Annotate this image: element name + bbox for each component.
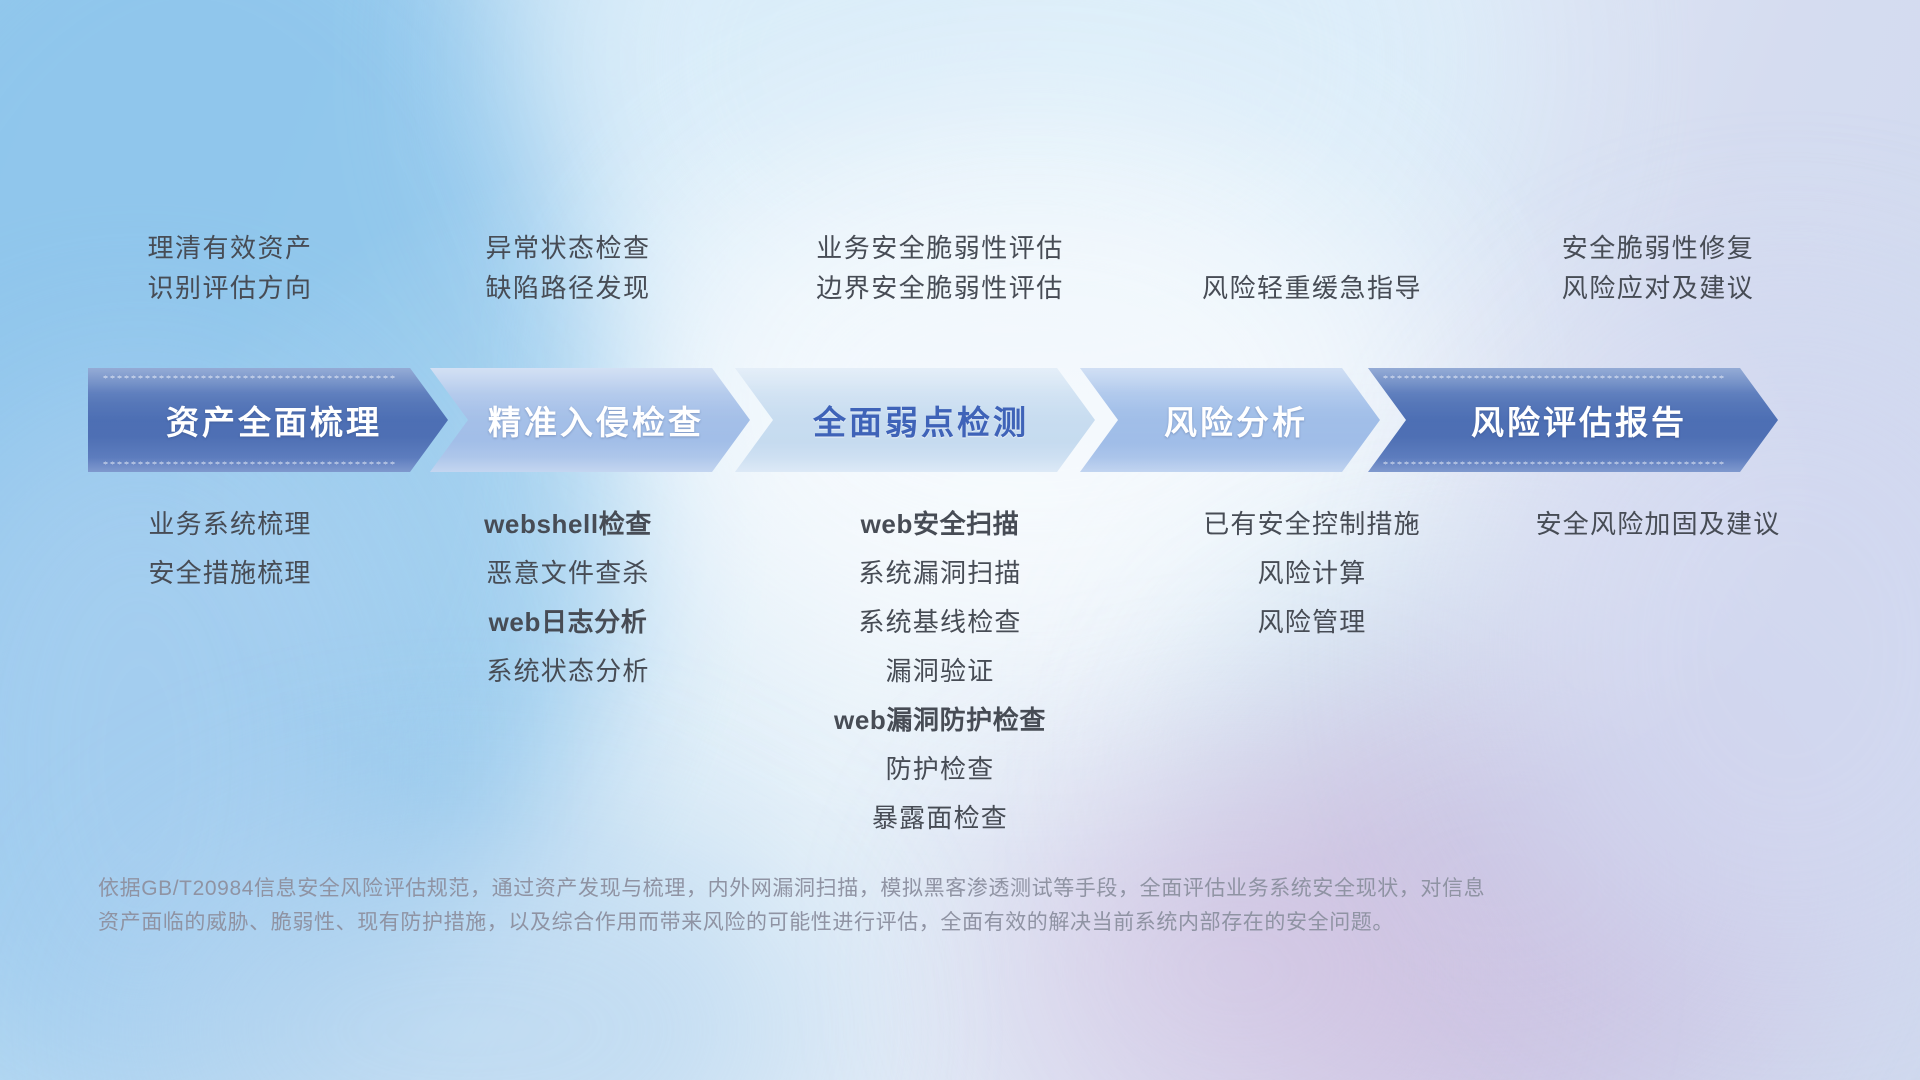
stage-top-labels-row: 理清有效资产识别评估方向异常状态检查缺陷路径发现业务安全脆弱性评估边界安全脆弱性…	[0, 228, 1920, 338]
stage-top-label: 风险应对及建议	[1408, 268, 1908, 308]
stage-bottom-item: 防护检查	[690, 745, 1190, 794]
footer-line-2: 资产面临的威胁、脆弱性、现有防护措施，以及综合作用而带来风险的可能性进行评估，全…	[98, 906, 1658, 940]
stage-bottom-lists-row: 业务系统梳理安全措施梳理webshell检查恶意文件查杀web日志分析系统状态分…	[0, 500, 1920, 860]
stage-bottom-item: 漏洞验证	[690, 647, 1190, 696]
infographic-content: 理清有效资产识别评估方向异常状态检查缺陷路径发现业务安全脆弱性评估边界安全脆弱性…	[0, 0, 1920, 1080]
chevron-stage-asset-inventory[interactable]: 资产全面梳理	[88, 368, 448, 472]
chevron-label-risk-report: 风险评估报告	[1471, 396, 1687, 444]
stage-bottom-list-risk-report: 安全风险加固及建议	[1408, 500, 1908, 549]
chevron-label-intrusion-check: 精准入侵检查	[488, 396, 704, 444]
chevron-dot-texture	[1382, 461, 1726, 465]
stage-top-labels-risk-report: 安全脆弱性修复风险应对及建议	[1408, 228, 1908, 308]
stage-top-label: 业务安全脆弱性评估	[690, 228, 1190, 268]
chevron-dot-texture	[1382, 375, 1726, 379]
stage-top-label: 安全脆弱性修复	[1408, 228, 1908, 268]
stage-bottom-item: web漏洞防护检查	[690, 696, 1190, 745]
chevron-label-asset-inventory: 资产全面梳理	[166, 396, 382, 444]
footer-line-1: 依据GB/T20984信息安全风险评估规范，通过资产发现与梳理，内外网漏洞扫描，…	[98, 872, 1658, 906]
process-chevron-banner: 资产全面梳理精准入侵检查全面弱点检测风险分析风险评估报告	[0, 368, 1920, 472]
chevron-stage-intrusion-check[interactable]: 精准入侵检查	[430, 368, 750, 472]
chevron-dot-texture	[102, 375, 396, 379]
chevron-stage-weakness-detection[interactable]: 全面弱点检测	[735, 368, 1095, 472]
chevron-label-risk-analysis: 风险分析	[1164, 396, 1308, 444]
chevron-stage-risk-report[interactable]: 风险评估报告	[1368, 368, 1778, 472]
chevron-dot-texture	[102, 461, 396, 465]
chevron-label-weakness-detection: 全面弱点检测	[813, 396, 1029, 444]
stage-bottom-item: 暴露面检查	[690, 794, 1190, 843]
footer-description: 依据GB/T20984信息安全风险评估规范，通过资产发现与梳理，内外网漏洞扫描，…	[98, 872, 1658, 940]
stage-bottom-item: 风险计算	[1062, 549, 1562, 598]
chevron-stage-risk-analysis[interactable]: 风险分析	[1080, 368, 1380, 472]
stage-bottom-item: 风险管理	[1062, 598, 1562, 647]
stage-bottom-item: 安全风险加固及建议	[1408, 500, 1908, 549]
